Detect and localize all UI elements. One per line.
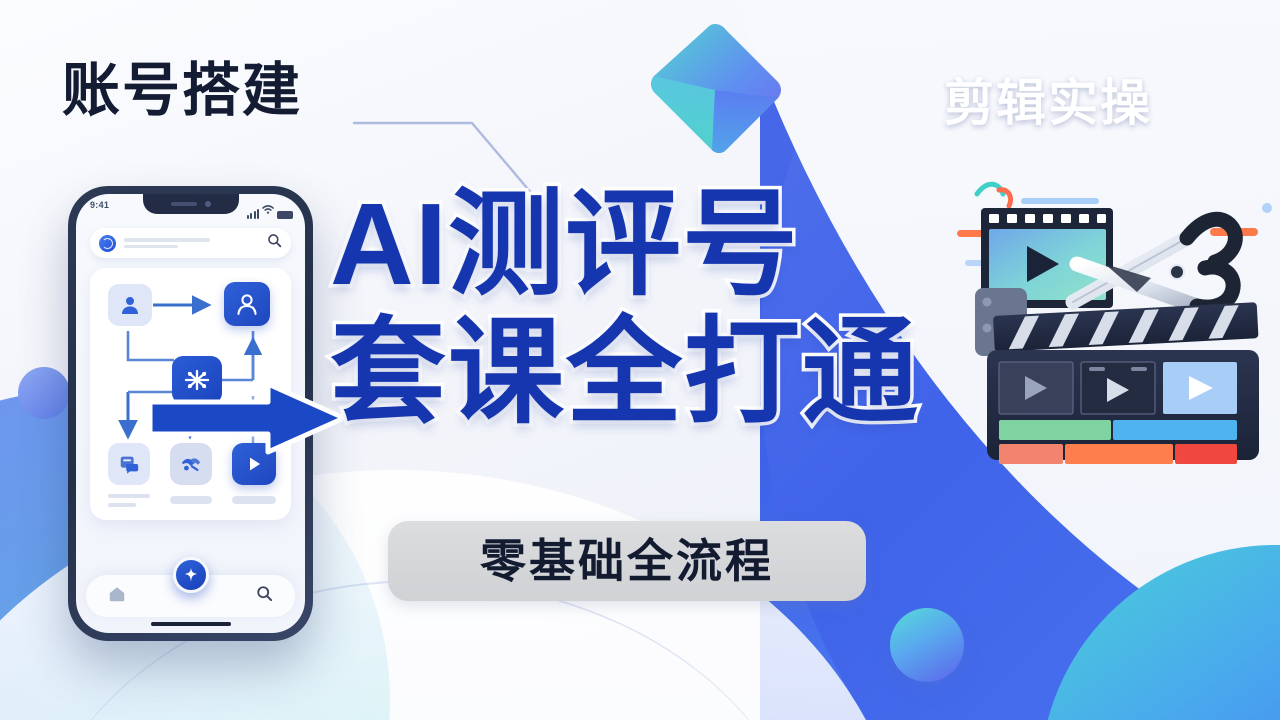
timeline-track (1175, 444, 1237, 464)
flow-node-document[interactable] (108, 443, 150, 485)
caption-line (108, 503, 136, 507)
globe-icon (99, 235, 116, 252)
caption-line (232, 496, 276, 504)
sphere-icon-medium (890, 608, 964, 682)
timeline-track (1113, 420, 1237, 440)
status-time: 9:41 (90, 200, 109, 210)
search-icon[interactable] (267, 233, 282, 253)
agent-avatar-icon (234, 291, 260, 317)
tag-editing-practice: 剪辑实操 (944, 78, 1152, 128)
subtitle-text: 零基础全流程 (480, 538, 774, 584)
sparkle-plus-icon[interactable] (173, 557, 209, 593)
title-line-2: 套课全打通 (330, 314, 1090, 430)
home-icon[interactable] (108, 585, 126, 608)
document-chat-icon (118, 453, 140, 475)
battery-icon (277, 211, 293, 219)
signal-bars-icon (247, 209, 260, 219)
home-indicator (151, 622, 231, 626)
user-icon (118, 293, 142, 317)
right-arrow-icon (148, 380, 348, 456)
flow-node-agent[interactable] (224, 282, 270, 326)
play-video-icon (244, 454, 264, 474)
search-placeholder-lines (124, 235, 267, 251)
wifi-icon (262, 201, 274, 219)
main-title: AI测评号 套课全打通 (330, 186, 1090, 430)
search-icon[interactable] (256, 585, 273, 607)
subtitle-badge: 零基础全流程 (388, 521, 866, 601)
dot-accent (1262, 203, 1272, 213)
status-icons (247, 201, 294, 219)
timeline-track (999, 444, 1063, 464)
search-input[interactable] (90, 228, 291, 258)
flow-node-user[interactable] (108, 284, 152, 326)
poster-canvas: 9:41 (0, 0, 1280, 720)
gradient-cube-icon (640, 18, 790, 178)
dot-grid-icon (1140, 24, 1250, 94)
caption-line (170, 496, 212, 504)
share-handshake-icon (179, 453, 203, 475)
title-line-1: AI测评号 (330, 186, 1090, 302)
tag-account-building: 账号搭建 (62, 62, 302, 120)
timeline-track (1065, 444, 1173, 464)
sphere-icon-small (18, 367, 70, 419)
caption-line (108, 494, 150, 498)
status-bar: 9:41 (76, 200, 305, 216)
